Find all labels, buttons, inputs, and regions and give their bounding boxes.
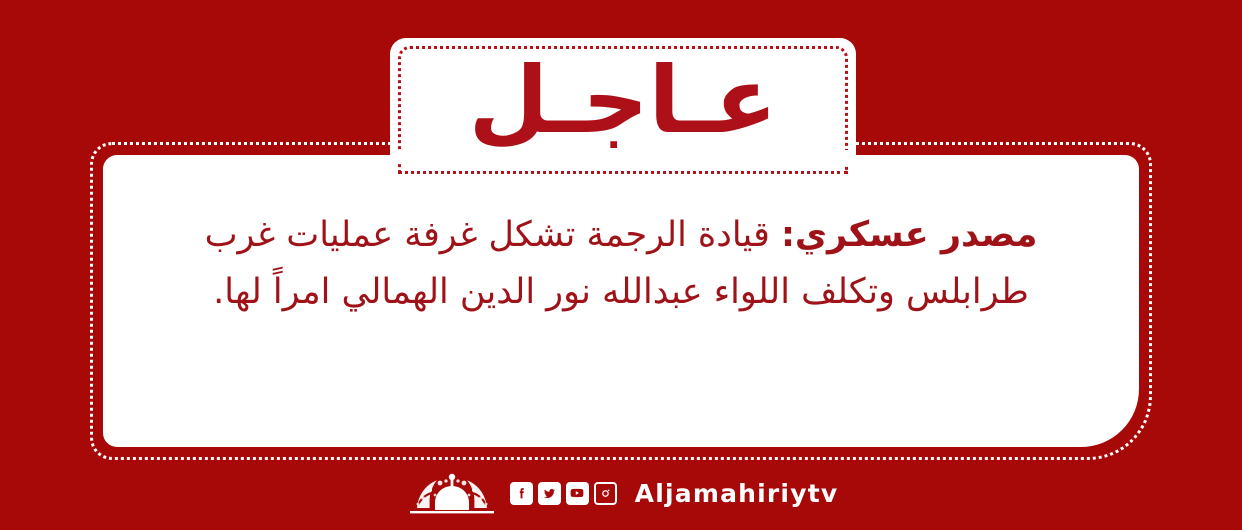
- news-card-stage: مصدر عسكري: قيادة الرجمة تشكل غرفة عمليا…: [0, 0, 1242, 530]
- instagram-icon[interactable]: [594, 482, 617, 505]
- headline-lead: مصدر عسكري:: [781, 215, 1037, 255]
- news-body-card: مصدر عسكري: قيادة الرجمة تشكل غرفة عمليا…: [103, 155, 1139, 447]
- social-icons: [510, 482, 617, 505]
- badge-label: عـاجـل: [390, 55, 856, 147]
- urgent-badge: عـاجـل: [390, 38, 856, 164]
- twitter-icon[interactable]: [538, 482, 561, 505]
- headline-text: مصدر عسكري: قيادة الرجمة تشكل غرفة عمليا…: [163, 207, 1079, 320]
- badge-card-merge-strip: [398, 150, 848, 164]
- youtube-icon[interactable]: [566, 482, 589, 505]
- dome-arch-ornament-logo: [404, 470, 500, 516]
- facebook-icon[interactable]: [510, 482, 533, 505]
- footer-bar: Aljamahiriytv: [0, 464, 1242, 522]
- brand-name: Aljamahiriytv: [635, 479, 839, 508]
